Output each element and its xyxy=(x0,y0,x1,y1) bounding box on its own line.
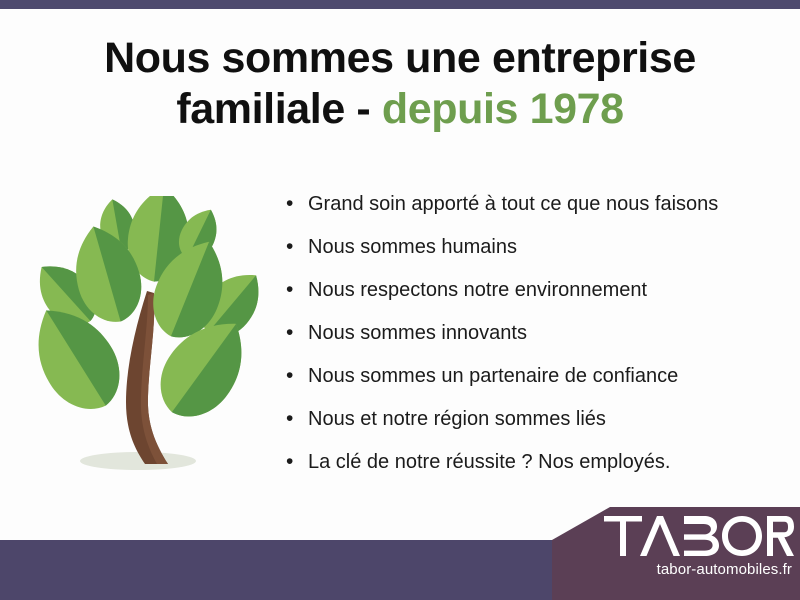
brand-logo-block[interactable]: tabor-automobiles.fr xyxy=(552,507,800,600)
tabor-wordmark-icon xyxy=(604,516,794,556)
list-item: • Grand soin apporté à tout ce que nous … xyxy=(286,191,786,234)
list-item: • Nous respectons notre environnement xyxy=(286,277,786,320)
list-item-label: Grand soin apporté à tout ce que nous fa… xyxy=(308,191,718,217)
tree-illustration xyxy=(14,196,274,486)
list-item-label: La clé de notre réussite ? Nos employés. xyxy=(308,449,670,475)
list-item: • Nous sommes un partenaire de confiance xyxy=(286,363,786,406)
title-plain-text: familiale xyxy=(176,85,356,133)
list-item-label: Nous sommes humains xyxy=(308,234,517,260)
bullet-marker-icon: • xyxy=(286,277,308,303)
list-item-label: Nous sommes un partenaire de confiance xyxy=(308,363,678,389)
tree-shadow xyxy=(80,452,196,470)
logo-tagline[interactable]: tabor-automobiles.fr xyxy=(552,561,800,578)
list-item: • La clé de notre réussite ? Nos employé… xyxy=(286,449,786,492)
bullet-marker-icon: • xyxy=(286,363,308,389)
title-line-1: Nous sommes une entreprise xyxy=(0,33,800,84)
list-item: • Nous sommes innovants xyxy=(286,320,786,363)
title-dash: - xyxy=(356,85,381,133)
bullet-marker-icon: • xyxy=(286,234,308,260)
title-line-2: familiale - depuis 1978 xyxy=(0,84,800,135)
bullet-marker-icon: • xyxy=(286,406,308,432)
top-accent-bar xyxy=(0,0,800,9)
list-item-label: Nous respectons notre environnement xyxy=(308,277,647,303)
slide-canvas: Nous sommes une entreprise familiale - d… xyxy=(0,0,800,600)
list-item: • Nous et notre région sommes liés xyxy=(286,406,786,449)
page-title: Nous sommes une entreprise familiale - d… xyxy=(0,33,800,134)
list-item-label: Nous sommes innovants xyxy=(308,320,527,346)
bullet-list: • Grand soin apporté à tout ce que nous … xyxy=(286,191,786,492)
bullet-marker-icon: • xyxy=(286,191,308,217)
bullet-marker-icon: • xyxy=(286,320,308,346)
bullet-marker-icon: • xyxy=(286,449,308,475)
title-accent-text: depuis 1978 xyxy=(382,85,624,133)
list-item: • Nous sommes humains xyxy=(286,234,786,277)
list-item-label: Nous et notre région sommes liés xyxy=(308,406,606,432)
